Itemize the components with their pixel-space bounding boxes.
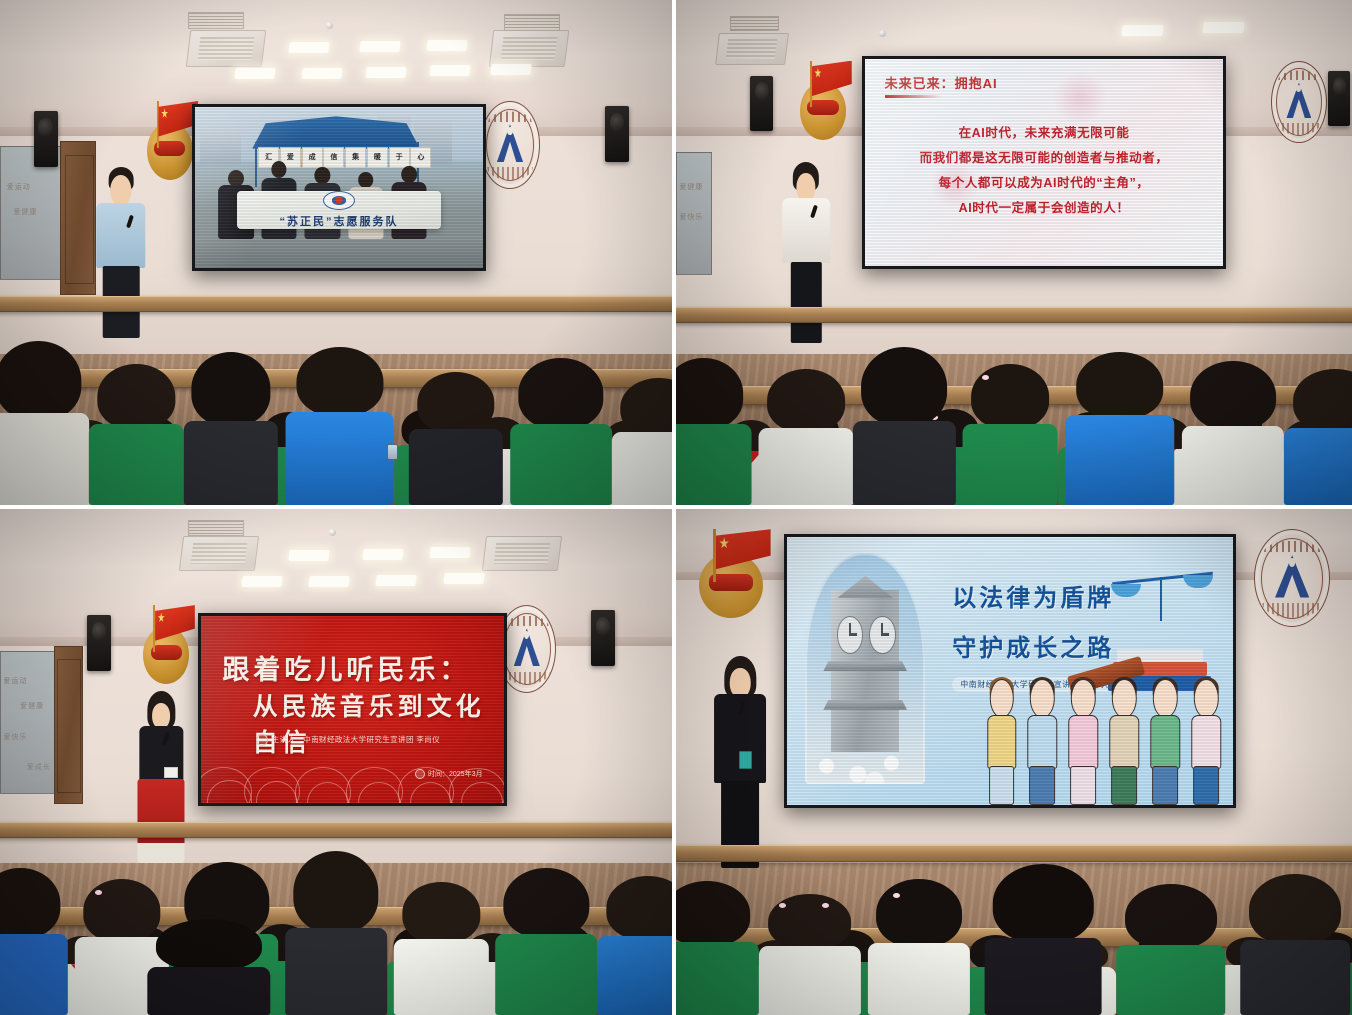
student-in-blue-jacket [1284,369,1352,505]
bench-row [0,822,672,838]
slide-body-line: AI时代一定属于会创造的人！ [865,196,1223,221]
hair-bow [893,893,900,898]
ac-cassette-icon [488,30,569,67]
ac-cassette-icon [179,536,259,571]
panel-top-left: 爱运动 爱健康 [0,0,672,505]
communist-youth-league-emblem [798,61,852,142]
smoke-detector-icon [326,22,333,29]
student [184,352,278,505]
ceiling-light [490,64,532,75]
zuel-university-seal [1254,529,1330,627]
student [1240,874,1350,1015]
slide-body-line: 每个人都可以成为AI时代的“主角”， [865,171,1223,196]
slide-title-line1: 跟着吃儿听民乐： [222,648,470,687]
wall-speaker [591,610,615,666]
panel-bottom-right: 以法律为盾牌 守护成长之路 中南财经政法大学研究生宣讲团 支海岳 [676,509,1352,1015]
ac-cassette-icon [482,536,562,571]
ceiling-light [429,65,471,76]
led-display-screen: 以法律为盾牌 守护成长之路 中南财经政法大学研究生宣讲团 支海岳 [784,534,1236,808]
student [676,358,751,505]
student [985,864,1102,1015]
slide-law-shield: 以法律为盾牌 守护成长之路 中南财经政法大学研究生宣讲团 支海岳 [787,537,1233,805]
ac-cassette-icon [715,33,789,65]
ceiling-light [308,576,350,587]
ceiling-light [241,576,283,587]
clock-face-icon [837,616,863,654]
student [89,364,183,505]
smoke-detector-icon [329,529,336,536]
lecture-hall-room: 爱运动 爱健康 爱快乐 爱成长 跟着吃儿听民乐： 从民族音乐到文化自信 [0,509,672,1015]
ceiling-light [376,575,418,586]
volunteer-team-logo-icon [323,191,355,210]
student [676,881,758,1015]
student [510,358,612,505]
audience-area [0,732,672,1015]
ceiling-light [288,42,330,53]
slide-body: 在AI时代，未来充满无限可能 而我们都是这无限可能的创造者与推动者， 每个人都可… [865,121,1223,221]
student [0,868,67,1015]
ceiling-light [429,547,471,558]
slide-title: 未来已来：拥抱AI [885,73,998,92]
slide-body-line: 在AI时代，未来充满无限可能 [865,121,1223,146]
hair-bow [982,375,989,380]
smoke-detector-icon [879,30,886,37]
student [758,894,860,1015]
ac-vent-icon [730,16,779,30]
wall-speaker [34,111,58,167]
ac-vent-icon [504,14,560,31]
student [147,919,270,1015]
ceiling-light [302,68,344,79]
grid-gutter-horizontal [0,505,1352,509]
communist-youth-league-emblem [696,529,770,620]
lecture-hall-room: 爱运动 爱健康 [0,0,672,505]
student [612,378,672,505]
student [409,372,503,505]
wall-speaker [605,106,629,162]
ceiling-light [1121,25,1163,36]
wall-slogan-text: 爱运动 [3,676,27,686]
wall-slogan-text: 爱健康 [20,701,44,711]
student [285,851,387,1015]
ceiling-light [359,41,401,52]
audience-area [676,772,1352,1015]
lecture-hall-room: 以法律为盾牌 守护成长之路 中南财经政法大学研究生宣讲团 支海岳 [676,509,1352,1015]
zuel-university-seal [480,101,539,189]
wall-slogan-text: 爱健康 [13,207,37,217]
student-in-blue-jacket [597,876,672,1015]
ac-cassette-icon [186,30,267,67]
panel-bottom-left: 爱运动 爱健康 爱快乐 爱成长 跟着吃儿听民乐： 从民族音乐到文化自信 [0,509,672,1015]
student [1182,361,1284,505]
student [0,341,89,505]
student-in-blue-jacket [285,347,394,505]
smartphone[interactable] [387,444,398,460]
bench-row [676,307,1352,323]
ac-vent-icon [188,520,244,536]
ceiling-light [1203,22,1245,33]
wall-speaker [87,615,111,671]
teal-notebook [739,751,752,769]
audience-area [0,222,672,505]
slide-body-line: 而我们都是这无限可能的创造者与推动者， [865,146,1223,171]
scales-of-justice-icon [1108,553,1215,644]
student [1116,884,1226,1015]
clock-tower-photo [805,553,925,784]
communist-youth-league-emblem [144,101,198,182]
student [853,347,955,505]
student [496,868,598,1015]
zuel-university-seal [1271,61,1327,144]
slide-title-line2: 守护成长之路 [952,628,1114,663]
wall-speaker [750,76,773,132]
student [868,879,970,1015]
ceiling-light [443,573,485,584]
student [758,369,853,505]
ceiling-light [235,68,277,79]
photo-collage: 爱运动 爱健康 [0,0,1352,1015]
ceiling-light [288,550,330,561]
panel-top-right: 爱健康 爱快乐 未来已来：拥抱AI [676,0,1352,505]
wall-slogan-text: 爱快乐 [679,212,703,222]
slide-title-line1: 以法律为盾牌 [952,578,1114,613]
bench-row [676,845,1352,862]
ceiling-light [366,67,408,78]
title-underline [885,95,942,98]
student [394,882,488,1015]
wall-speaker [1328,71,1350,127]
audience-area [676,222,1352,505]
wall-slogan-text: 爱健康 [679,182,703,192]
communist-youth-league-emblem [141,605,195,686]
lecture-hall-room: 爱健康 爱快乐 未来已来：拥抱AI [676,0,1352,505]
student-in-blue-jacket [1065,352,1175,505]
ceiling-light [426,40,468,51]
clock-face-icon [869,616,895,654]
student [963,364,1058,505]
ceiling-light [362,549,404,560]
wall-slogan-text: 爱运动 [7,182,31,192]
bench-row [0,296,672,312]
ac-vent-icon [188,12,244,29]
